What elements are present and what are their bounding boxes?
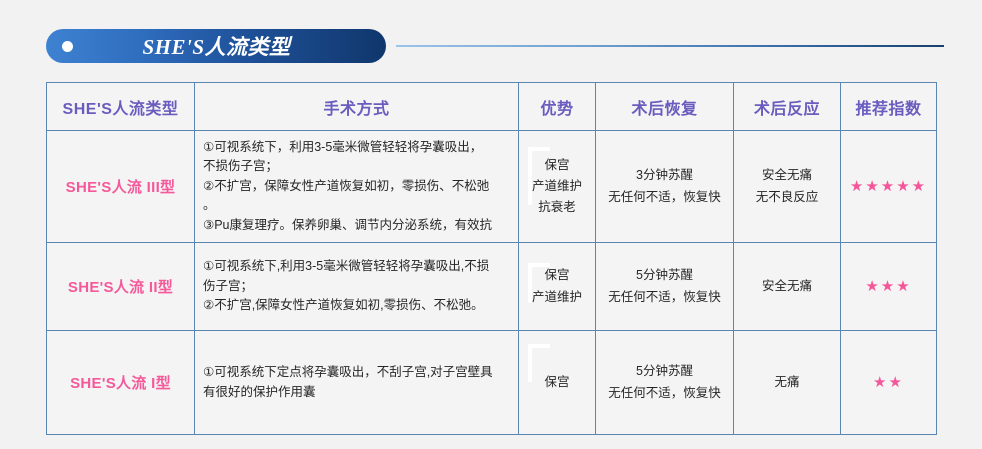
- advantage-line: 抗衰老: [527, 197, 587, 218]
- star-rating-icon: ★★★★★: [850, 178, 927, 195]
- advantage-line: 保宫: [527, 155, 587, 176]
- advantage-line: 保宫: [527, 372, 587, 393]
- cell-reaction: 安全无痛: [734, 243, 841, 331]
- method-line: ②不扩宫，保障女性产道恢复如初，零损伤、不松弛: [203, 177, 510, 196]
- cell-advantage: 保宫 产道维护: [519, 243, 596, 331]
- reaction-line: 无不良反应: [742, 187, 832, 208]
- method-line: ①可视系统下,利用3-5毫米微管轻轻将孕囊吸出,不损: [203, 257, 510, 276]
- advantage-line: 产道维护: [527, 176, 587, 197]
- table-header-row: SHE'S人流类型 手术方式 优势 术后恢复 术后反应 推荐指数: [47, 83, 937, 131]
- cell-method: ①可视系统下，利用3-5毫米微管轻轻将孕囊吸出， 不损伤子宫； ②不扩宫，保障女…: [195, 131, 519, 243]
- reaction-line: 安全无痛: [742, 276, 832, 297]
- table-row: SHE'S人流 II型 ①可视系统下,利用3-5毫米微管轻轻将孕囊吸出,不损 伤…: [47, 243, 937, 331]
- abortion-type-comparison-table: SHE'S人流类型 手术方式 优势 术后恢复 术后反应 推荐指数 SHE'S人流…: [46, 82, 937, 435]
- recovery-line: 无任何不适，恢复快: [604, 187, 725, 208]
- method-line: ②不扩宫,保障女性产道恢复如初,零损伤、不松弛。: [203, 296, 510, 315]
- star-rating-icon: ★★: [873, 374, 904, 391]
- corner-mark-icon: [528, 147, 532, 205]
- page-title: SHE'S人流类型: [73, 31, 386, 61]
- cell-recovery: 3分钟苏醒 无任何不适，恢复快: [596, 131, 734, 243]
- cell-score: ★★★: [841, 243, 937, 331]
- star-rating-icon: ★★★: [865, 278, 911, 295]
- cell-method: ①可视系统下,利用3-5毫米微管轻轻将孕囊吸出,不损 伤子宫； ②不扩宫,保障女…: [195, 243, 519, 331]
- page-header: SHE'S人流类型: [0, 0, 982, 78]
- cell-type: SHE'S人流 II型: [47, 243, 195, 331]
- dot-icon: [62, 41, 73, 52]
- method-line: ①可视系统下，利用3-5毫米微管轻轻将孕囊吸出，: [203, 138, 510, 157]
- column-header-reaction: 术后反应: [734, 83, 841, 131]
- recovery-line: 5分钟苏醒: [604, 361, 725, 382]
- section-title-banner: SHE'S人流类型: [46, 29, 386, 63]
- method-line: 有很好的保护作用囊: [203, 383, 510, 402]
- method-line: 不损伤子宫；: [203, 157, 510, 176]
- cell-type: SHE'S人流 III型: [47, 131, 195, 243]
- header-divider: [396, 45, 944, 47]
- cell-score: ★★★★★: [841, 131, 937, 243]
- cell-recovery: 5分钟苏醒 无任何不适，恢复快: [596, 331, 734, 435]
- column-header-type: SHE'S人流类型: [47, 83, 195, 131]
- recovery-line: 无任何不适，恢复快: [604, 383, 725, 404]
- column-header-score: 推荐指数: [841, 83, 937, 131]
- method-line: ①可视系统下定点将孕囊吸出，不刮子宫,对子宫壁具: [203, 363, 510, 382]
- comparison-table-container: SHE'S人流类型 手术方式 优势 术后恢复 术后反应 推荐指数 SHE'S人流…: [46, 82, 936, 434]
- cell-advantage: 保宫 产道维护 抗衰老: [519, 131, 596, 243]
- reaction-line: 安全无痛: [742, 165, 832, 186]
- recovery-line: 5分钟苏醒: [604, 265, 725, 286]
- cell-score: ★★: [841, 331, 937, 435]
- table-row: SHE'S人流 III型 ①可视系统下，利用3-5毫米微管轻轻将孕囊吸出， 不损…: [47, 131, 937, 243]
- recovery-line: 3分钟苏醒: [604, 165, 725, 186]
- cell-reaction: 安全无痛 无不良反应: [734, 131, 841, 243]
- table-row: SHE'S人流 I型 ①可视系统下定点将孕囊吸出，不刮子宫,对子宫壁具 有很好的…: [47, 331, 937, 435]
- column-header-advantage: 优势: [519, 83, 596, 131]
- cell-reaction: 无痛: [734, 331, 841, 435]
- column-header-method: 手术方式: [195, 83, 519, 131]
- cell-type: SHE'S人流 I型: [47, 331, 195, 435]
- cell-advantage: 保宫: [519, 331, 596, 435]
- advantage-line: 产道维护: [527, 287, 587, 308]
- column-header-recovery: 术后恢复: [596, 83, 734, 131]
- cell-method: ①可视系统下定点将孕囊吸出，不刮子宫,对子宫壁具 有很好的保护作用囊: [195, 331, 519, 435]
- cell-recovery: 5分钟苏醒 无任何不适，恢复快: [596, 243, 734, 331]
- method-line: 。: [203, 196, 510, 215]
- method-line: 伤子宫；: [203, 277, 510, 296]
- advantage-line: 保宫: [527, 265, 587, 286]
- reaction-line: 无痛: [742, 372, 832, 393]
- recovery-line: 无任何不适，恢复快: [604, 287, 725, 308]
- corner-mark-icon: [528, 263, 532, 303]
- method-line: ③Pu康复理疗。保养卵巢、调节内分泌系统，有效抗: [203, 216, 510, 235]
- corner-mark-icon: [528, 344, 532, 382]
